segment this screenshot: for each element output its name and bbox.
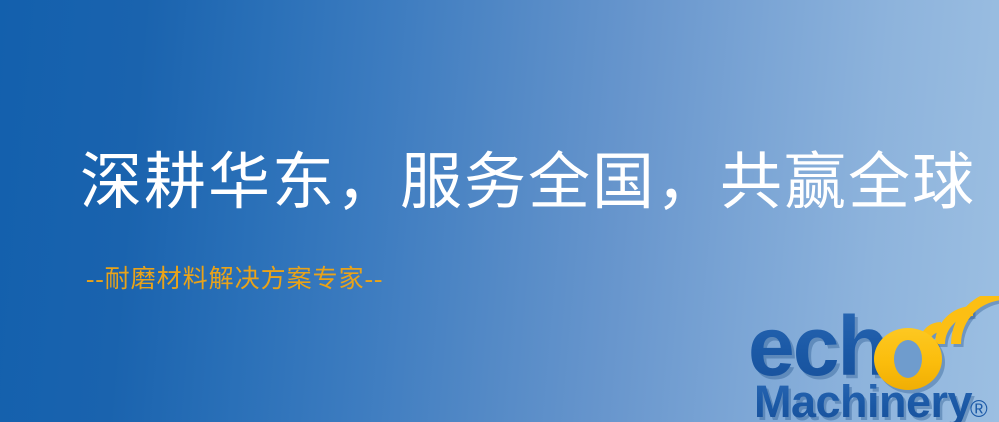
- banner-subtitle: --耐磨材料解决方案专家--: [86, 267, 383, 292]
- banner-headline: 深耕华东，服务全国，共赢全球: [80, 152, 976, 214]
- registered-mark-icon: ®: [970, 396, 988, 422]
- echo-machinery-logo[interactable]: ech ech Machinery Machinery ®: [748, 296, 999, 422]
- hero-banner: 深耕华东，服务全国，共赢全球 --耐磨材料解决方案专家--: [0, 0, 999, 422]
- logo-subtext: Machinery: [754, 376, 973, 422]
